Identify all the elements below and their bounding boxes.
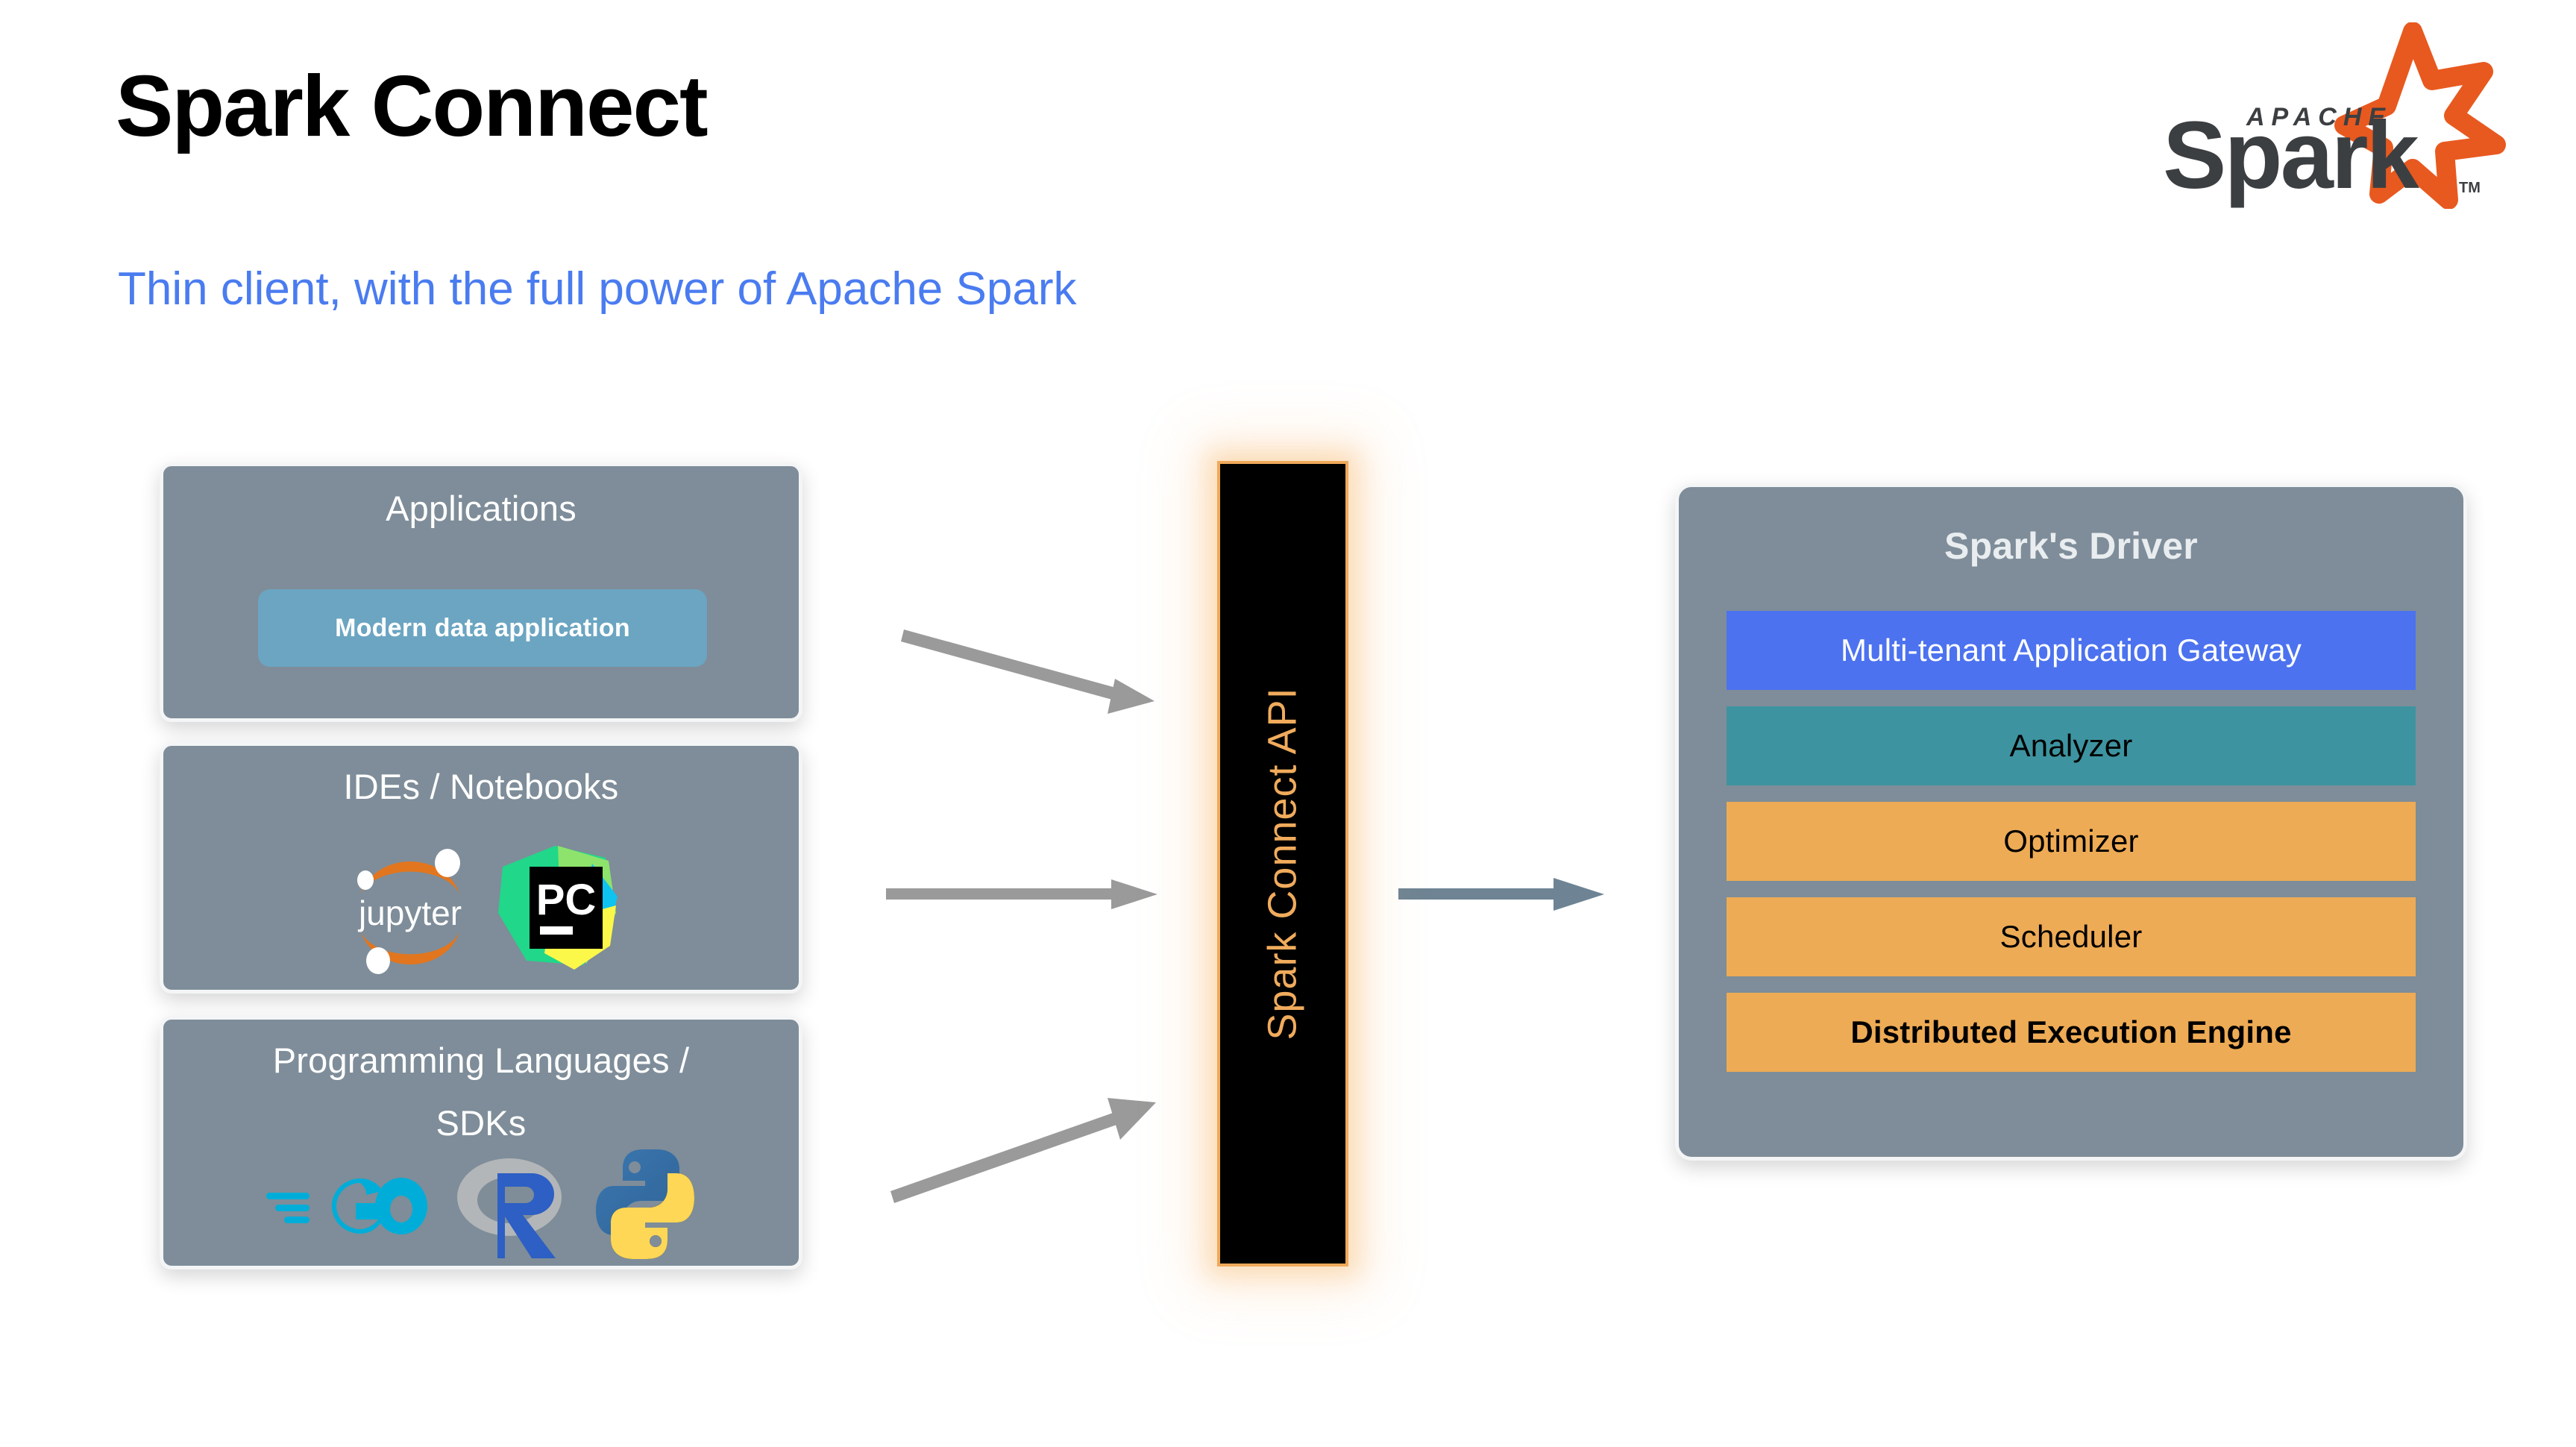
jupyter-wordmark: jupyter: [356, 894, 461, 932]
panel-programming-languages-title-line1: Programming Languages /: [163, 1039, 799, 1082]
svg-text:Spark: Spark: [2163, 102, 2420, 209]
python-logo: [593, 1146, 697, 1266]
driver-row-multi-tenant-application-gateway[interactable]: Multi-tenant Application Gateway: [1727, 611, 2416, 690]
spark-connect-api-label: Spark Connect API: [1260, 687, 1306, 1040]
arrow-ides-to-api: [880, 861, 1231, 929]
driver-row-analyzer[interactable]: Analyzer: [1727, 706, 2416, 785]
panel-applications[interactable]: Applications Modern data application: [160, 462, 802, 722]
arrow-api-to-driver: [1391, 861, 1630, 929]
arrow-applications-to-api: [880, 597, 1231, 738]
ide-logo-row: jupyter PC: [163, 839, 799, 977]
panel-ides-notebooks-title: IDEs / Notebooks: [163, 765, 799, 809]
driver-row-distributed-execution-engine[interactable]: Distributed Execution Engine: [1727, 993, 2416, 1072]
modern-data-application-chip[interactable]: Modern data application: [258, 589, 707, 667]
panel-programming-languages-title-line2: SDKs: [163, 1102, 799, 1145]
panel-programming-languages-sdks[interactable]: Programming Languages / SDKs: [160, 1016, 802, 1269]
language-logo-row: [163, 1146, 799, 1266]
panel-applications-title: Applications: [163, 487, 799, 530]
panel-ides-notebooks[interactable]: IDEs / Notebooks jupyter: [160, 742, 802, 994]
page-subtitle: Thin client, with the full power of Apac…: [118, 263, 1076, 316]
arrow-languages-to-api: [880, 1067, 1231, 1208]
driver-component-list: Multi-tenant Application Gateway Analyze…: [1727, 611, 2416, 1088]
slide-canvas: Spark Connect Thin client, with the full…: [0, 0, 2576, 1447]
driver-row-scheduler[interactable]: Scheduler: [1727, 897, 2416, 976]
apache-spark-logo: APACHE Spark TM: [2133, 22, 2521, 209]
panel-spark-driver[interactable]: Spark's Driver Multi-tenant Application …: [1675, 483, 2467, 1161]
page-title: Spark Connect: [116, 61, 707, 152]
logo-trademark: TM: [2459, 180, 2481, 196]
jupyter-logo: jupyter: [343, 838, 477, 979]
r-logo: [451, 1146, 578, 1266]
spark-connect-api-bar[interactable]: Spark Connect API: [1217, 461, 1348, 1266]
driver-row-optimizer[interactable]: Optimizer: [1727, 802, 2416, 881]
pycharm-pc-text: PC: [535, 876, 596, 924]
go-logo: [265, 1160, 436, 1253]
pycharm-logo: PC: [497, 841, 620, 976]
logo-spark-word: Spark: [2163, 102, 2420, 209]
panel-spark-driver-title: Spark's Driver: [1679, 523, 2463, 569]
